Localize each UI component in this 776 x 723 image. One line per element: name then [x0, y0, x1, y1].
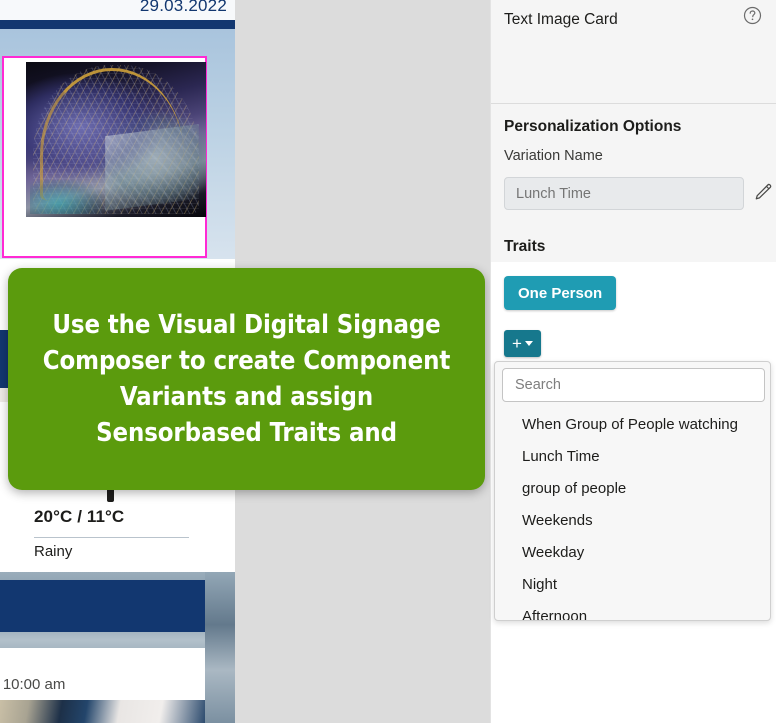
plus-icon: +: [512, 335, 522, 352]
weather-condition: Rainy: [34, 543, 72, 560]
search-input[interactable]: [502, 368, 765, 402]
weather-temperature: 20°C / 11°C: [34, 507, 124, 527]
navy-divider-top: [0, 20, 235, 29]
weather-divider: [34, 537, 189, 538]
coachmark-text: Use the Visual Digital Signage Composer …: [43, 307, 451, 452]
properties-panel: Text Image Card: [490, 0, 776, 723]
trait-chip-one-person[interactable]: One Person: [504, 276, 616, 310]
panel-tab-bar: [491, 57, 776, 104]
panel-title: Text Image Card: [504, 11, 618, 29]
dropdown-item[interactable]: Lunch Time: [495, 441, 771, 473]
time-card[interactable]: il 10:00 am: [0, 648, 205, 700]
help-circle-icon[interactable]: [738, 1, 766, 29]
traits-dropdown-list[interactable]: When Group of People watchingLunch Timeg…: [495, 409, 771, 621]
dropdown-item[interactable]: Night: [495, 569, 771, 601]
composer-canvas[interactable]: 29.03.2022 20°C / 11°C Rainy: [0, 0, 490, 723]
weather-widget[interactable]: 20°C / 11°C Rainy: [21, 490, 200, 572]
panel-body: Personalization Options Variation Name T…: [491, 104, 776, 723]
chevron-down-icon: [525, 341, 533, 346]
mosque-teal-detail: [30, 180, 102, 214]
pencil-icon[interactable]: [753, 182, 773, 204]
variation-name-label: Variation Name: [504, 148, 603, 164]
variation-name-input[interactable]: [504, 177, 744, 210]
dropdown-item[interactable]: Weekends: [495, 505, 771, 537]
personalization-section-title: Personalization Options: [504, 118, 681, 136]
dropdown-item[interactable]: group of people: [495, 473, 771, 505]
dropdown-item[interactable]: Afternoon: [495, 601, 771, 621]
background-photo-right-strip: [205, 572, 235, 723]
card-image: [26, 62, 206, 217]
dropdown-item[interactable]: Weekday: [495, 537, 771, 569]
selected-text-image-card[interactable]: [2, 56, 207, 258]
device-header-bar: 29.03.2022: [0, 0, 235, 20]
traits-section-title: Traits: [504, 238, 545, 256]
add-trait-button[interactable]: +: [504, 330, 541, 357]
time-label: il 10:00 am: [0, 676, 65, 693]
navy-band-block: [0, 580, 205, 632]
coachmark-tooltip[interactable]: Use the Visual Digital Signage Composer …: [8, 268, 485, 490]
bottom-photo: [0, 700, 205, 723]
dropdown-item[interactable]: When Group of People watching: [495, 409, 771, 441]
header-date: 29.03.2022: [140, 0, 227, 16]
app-root: 29.03.2022 20°C / 11°C Rainy: [0, 0, 776, 723]
mosque-arch-detail: [105, 124, 199, 211]
traits-zone: One Person + When Group of People watchi…: [491, 262, 776, 723]
traits-dropdown[interactable]: When Group of People watchingLunch Timeg…: [494, 361, 771, 621]
